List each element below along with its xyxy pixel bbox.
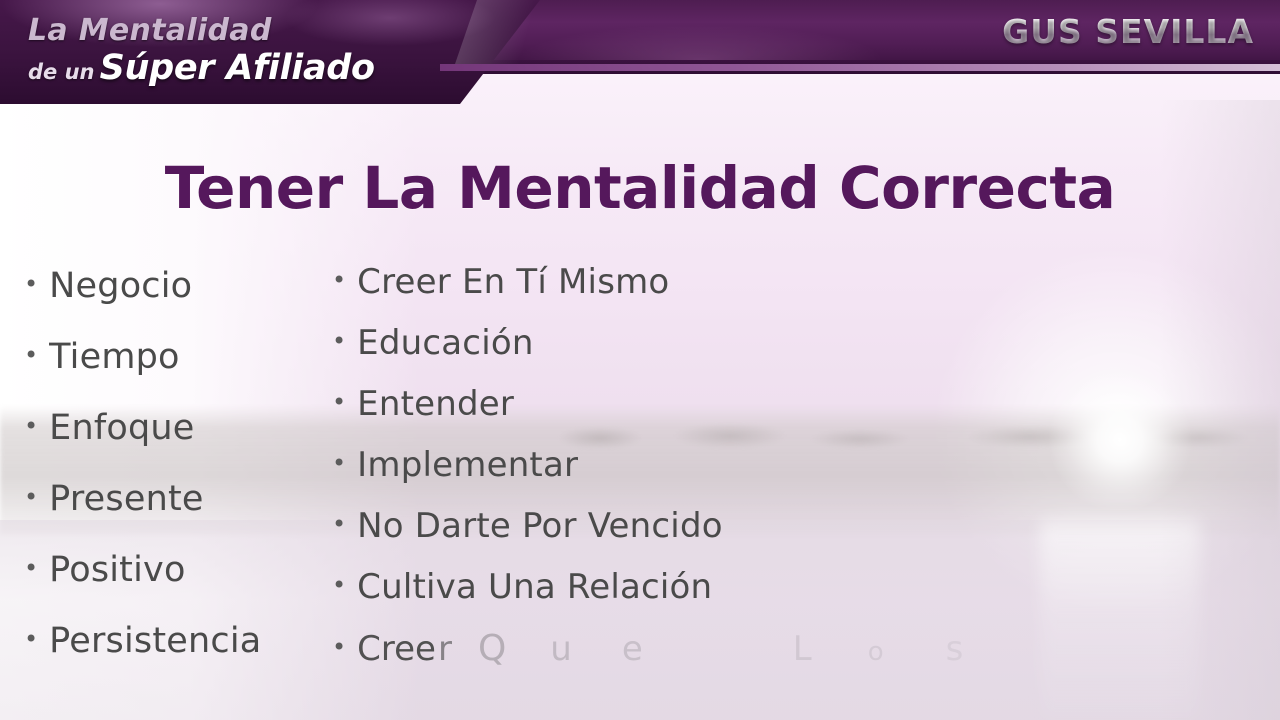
list-item-label: Cultiva Una Relación bbox=[357, 567, 712, 607]
logo-super-afiliado: Súper Afiliado bbox=[100, 48, 375, 88]
list-item: • Entender bbox=[332, 384, 1092, 445]
bullet-dot-icon: • bbox=[332, 512, 346, 536]
presentation-slide: La Mentalidad de un Súper Afiliado GUS S… bbox=[0, 0, 1280, 720]
list-item: • Persistencia bbox=[24, 621, 324, 692]
list-item-label: Entender bbox=[357, 384, 514, 424]
list-item-label: No Darte Por Vencido bbox=[357, 506, 723, 546]
bullet-dot-icon: • bbox=[24, 414, 38, 438]
list-item: • Enfoque bbox=[24, 408, 324, 479]
list-item: • Negocio bbox=[24, 266, 324, 337]
animating-text: Cree r Q u e L o s bbox=[357, 628, 963, 669]
list-item: • Creer En Tí Mismo bbox=[332, 262, 1092, 323]
list-item-label: Creer En Tí Mismo bbox=[357, 262, 669, 302]
fade-segment-5: e bbox=[622, 629, 643, 669]
course-logo: La Mentalidad de un Súper Afiliado bbox=[28, 14, 458, 94]
bullet-dot-icon: • bbox=[24, 627, 38, 651]
fade-segment-3: Q bbox=[478, 628, 506, 669]
logo-line-1: La Mentalidad bbox=[28, 14, 458, 48]
list-item-label: Positivo bbox=[49, 550, 185, 590]
list-item-label: Presente bbox=[49, 479, 203, 519]
presenter-name: GUS SEVILLA bbox=[1002, 12, 1254, 51]
list-item: • Educación bbox=[332, 323, 1092, 384]
list-item-label: Enfoque bbox=[49, 408, 194, 448]
fade-segment-2: r bbox=[438, 629, 452, 669]
bullet-dot-icon: • bbox=[332, 329, 346, 353]
list-item: • No Darte Por Vencido bbox=[332, 506, 1092, 567]
list-item: • Tiempo bbox=[24, 337, 324, 408]
bullet-list-right: • Creer En Tí Mismo • Educación • Entend… bbox=[332, 262, 1092, 689]
fade-segment-6: L bbox=[793, 629, 812, 669]
bullet-dot-icon: • bbox=[332, 390, 346, 414]
bullet-dot-icon: • bbox=[332, 573, 346, 597]
list-item: • Cultiva Una Relación bbox=[332, 567, 1092, 628]
list-item-label: Implementar bbox=[357, 445, 578, 485]
header-sheen bbox=[455, 0, 575, 104]
slide-header: La Mentalidad de un Súper Afiliado GUS S… bbox=[0, 0, 1280, 104]
bullet-dot-icon: • bbox=[24, 485, 38, 509]
bullet-dot-icon: • bbox=[24, 272, 38, 296]
bullet-dot-icon: • bbox=[24, 556, 38, 580]
list-item-animating: • Cree r Q u e L o s bbox=[332, 628, 1092, 689]
bullet-list-left: • Negocio • Tiempo • Enfoque • Presente … bbox=[24, 266, 324, 692]
header-underline bbox=[440, 64, 1280, 71]
list-item-label: Educación bbox=[357, 323, 533, 363]
fade-segment-8: s bbox=[946, 629, 964, 669]
fade-segment-7: o bbox=[868, 637, 884, 667]
fade-segment-4: u bbox=[550, 629, 572, 669]
list-item-label: Negocio bbox=[49, 266, 192, 306]
list-item: • Implementar bbox=[332, 445, 1092, 506]
logo-line-2: de un Súper Afiliado bbox=[28, 48, 458, 94]
list-item: • Positivo bbox=[24, 550, 324, 621]
fade-segment-1: Cree bbox=[357, 629, 436, 669]
logo-de-un: de un bbox=[28, 60, 95, 84]
list-item: • Presente bbox=[24, 479, 324, 550]
bullet-dot-icon: • bbox=[332, 268, 346, 292]
list-item-label: Tiempo bbox=[49, 337, 180, 377]
list-item-label: Persistencia bbox=[49, 621, 261, 661]
slide-title: Tener La Mentalidad Correcta bbox=[0, 152, 1280, 224]
bullet-dot-icon: • bbox=[332, 451, 346, 475]
bullet-dot-icon: • bbox=[24, 343, 38, 367]
bullet-dot-icon: • bbox=[332, 635, 346, 659]
